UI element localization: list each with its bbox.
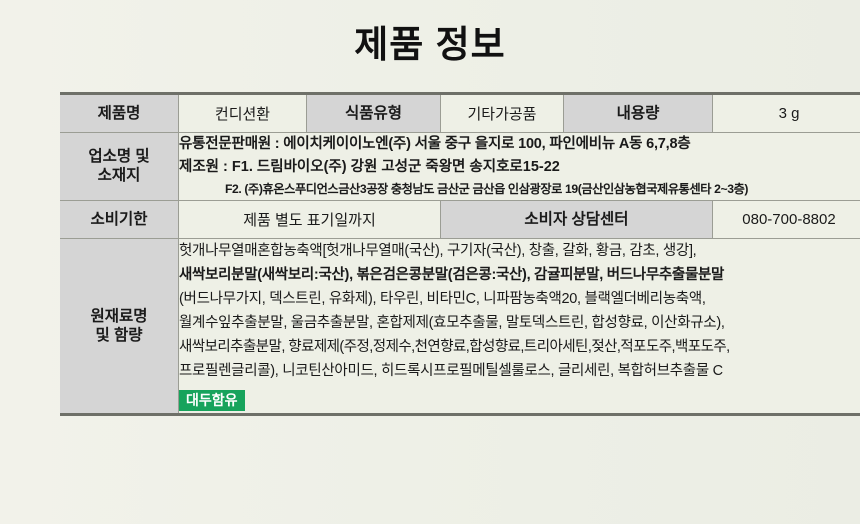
- ingredient-line-5: 새싹보리추출분말, 향료제제(주정,정제수,천연향료,합성향료,트리아세틴,젖산…: [179, 335, 860, 359]
- ingredient-line-6: 프로필렌글리콜), 니코틴산아미드, 히드록시프로필메틸셀룰로스, 글리세린, …: [179, 359, 860, 383]
- ingredient-line-3: (버드나무가지, 덱스트린, 유화제), 타우린, 비타민C, 니파팜농축액20…: [179, 287, 860, 311]
- table-row-company: 업소명 및 소재지 유통전문판매원 : 에이치케이이노엔(주) 서울 중구 을지…: [60, 133, 860, 201]
- value-expiry-date: 제품 별도 표기일까지: [179, 200, 441, 238]
- label-company-address-line1: 업소명 및: [88, 148, 149, 165]
- value-net-volume: 3 g: [713, 94, 860, 133]
- address-line-manufacturer-f2: F2. (주)휴온스푸디언스금산3공장 충청남도 금산군 금산읍 인삼광장로 1…: [179, 180, 860, 200]
- table-row-product: 제품명 컨디션환 식품유형 기타가공품 내용량 3 g: [60, 94, 860, 133]
- value-company-address: 유통전문판매원 : 에이치케이이노엔(주) 서울 중구 을지로 100, 파인에…: [179, 133, 860, 201]
- label-company-address: 업소명 및 소재지: [60, 133, 179, 201]
- table-row-expiry: 소비기한 제품 별도 표기일까지 소비자 상담센터 080-700-8802: [60, 200, 860, 238]
- label-ingredients-line1: 원재료명: [90, 308, 147, 325]
- allergen-badge-soy: 대두함유: [179, 390, 245, 411]
- label-ingredients-line2: 및 함량: [95, 327, 142, 344]
- ingredient-line-4: 월계수잎추출분말, 울금추출분말, 혼합제제(효모추출물, 말토덱스트린, 합성…: [179, 311, 860, 335]
- value-consumer-phone: 080-700-8802: [713, 200, 860, 238]
- ingredient-line-2: 새싹보리분말(새싹보리:국산), 볶은검은콩분말(검은콩:국산), 감귤피분말,…: [179, 263, 860, 287]
- address-line-distributor: 유통전문판매원 : 에이치케이이노엔(주) 서울 중구 을지로 100, 파인에…: [179, 133, 860, 156]
- label-food-type: 식품유형: [307, 94, 441, 133]
- label-net-volume: 내용량: [564, 94, 713, 133]
- label-company-address-line2: 소재지: [98, 167, 141, 184]
- table-row-ingredients: 원재료명 및 함량 헛개나무열매혼합농축액[헛개나무열매(국산), 구기자(국산…: [60, 238, 860, 414]
- value-food-type: 기타가공품: [441, 94, 564, 133]
- label-product-name: 제품명: [60, 94, 179, 133]
- value-ingredients: 헛개나무열매혼합농축액[헛개나무열매(국산), 구기자(국산), 창출, 갈화,…: [179, 238, 860, 414]
- address-line-manufacturer-f1: 제조원 : F1. 드림바이오(주) 강원 고성군 죽왕면 송지호로15-22: [179, 156, 860, 179]
- ingredient-line-1: 헛개나무열매혼합농축액[헛개나무열매(국산), 구기자(국산), 창출, 갈화,…: [179, 239, 860, 263]
- page-title: 제품 정보: [0, 14, 860, 68]
- value-product-name: 컨디션환: [179, 94, 307, 133]
- label-consumer-center: 소비자 상담센터: [441, 200, 713, 238]
- product-info-table: 제품명 컨디션환 식품유형 기타가공품 내용량 3 g 업소명 및 소재지 유통…: [60, 92, 860, 416]
- label-expiry-date: 소비기한: [60, 200, 179, 238]
- label-ingredients: 원재료명 및 함량: [60, 238, 179, 414]
